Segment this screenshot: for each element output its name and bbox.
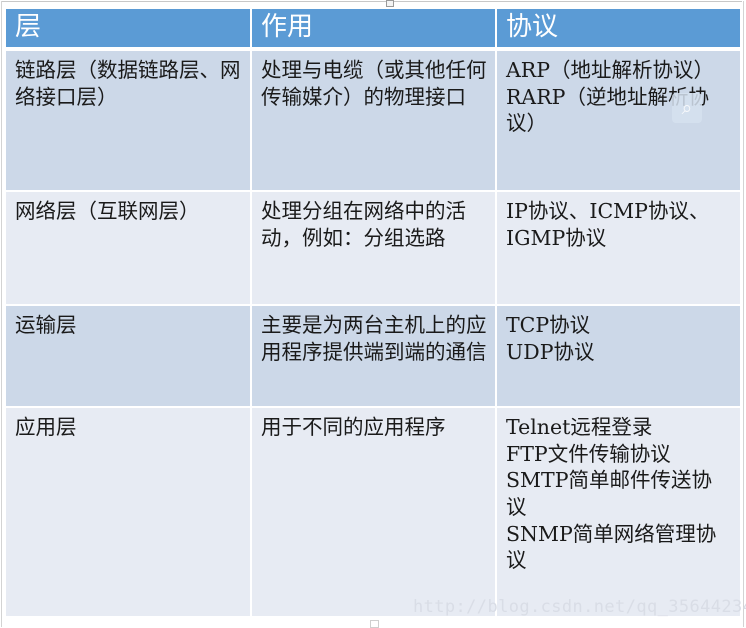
cell-protocols[interactable]: IP协议、ICMP协议、IGMP协议 (497, 192, 740, 306)
cell-text: TCP协议 UDP协议 (506, 312, 732, 365)
cell-text: 用于不同的应用程序 (261, 414, 487, 441)
object-resize-handle-top[interactable] (386, 0, 394, 7)
table-header-row: 层 作用 协议 (6, 9, 740, 47)
object-resize-handle-bottom[interactable] (370, 620, 379, 628)
cell-text: 处理与电缆（或其他任何传输媒介）的物理接口 (261, 57, 487, 110)
cell-text: 网络层（互联网层） (15, 198, 242, 225)
column-header-role[interactable]: 作用 (252, 9, 497, 47)
table-row: 运输层 主要是为两台主机上的应用程序提供端到端的通信 TCP协议 UDP协议 (6, 306, 740, 408)
table-row: 网络层（互联网层） 处理分组在网络中的活动，例如：分组选路 IP协议、ICMP协… (6, 192, 740, 306)
cell-layer[interactable]: 运输层 (6, 306, 252, 408)
object-frame-top-edge (2, 1, 742, 2)
cell-role[interactable]: 处理分组在网络中的活动，例如：分组选路 (252, 192, 497, 306)
cell-text: 应用层 (15, 414, 242, 441)
cell-text: 运输层 (15, 312, 242, 339)
slide-canvas: 层 作用 协议 链路层（数据链路层、网络接口层） 处理与电缆（或其他任何传输媒介… (0, 0, 746, 628)
cell-role[interactable]: 用于不同的应用程序 (252, 408, 497, 616)
cell-protocols[interactable]: TCP协议 UDP协议 (497, 306, 740, 408)
cell-protocols[interactable]: ARP（地址解析协议） RARP（逆地址解析协议） (497, 51, 740, 192)
table-row: 链路层（数据链路层、网络接口层） 处理与电缆（或其他任何传输媒介）的物理接口 A… (6, 51, 740, 192)
cell-layer[interactable]: 应用层 (6, 408, 252, 616)
cell-text: 处理分组在网络中的活动，例如：分组选路 (261, 198, 487, 251)
column-header-layer[interactable]: 层 (6, 9, 252, 47)
table-row: 应用层 用于不同的应用程序 Telnet远程登录 FTP文件传输协议 SMTP简… (6, 408, 740, 616)
protocol-layers-table: 层 作用 协议 链路层（数据链路层、网络接口层） 处理与电缆（或其他任何传输媒介… (6, 9, 740, 616)
cell-text: 主要是为两台主机上的应用程序提供端到端的通信 (261, 312, 487, 365)
object-frame-left-edge (1, 1, 2, 627)
column-header-protocol[interactable]: 协议 (497, 9, 740, 47)
cell-role[interactable]: 处理与电缆（或其他任何传输媒介）的物理接口 (252, 51, 497, 192)
cell-text: IP协议、ICMP协议、IGMP协议 (506, 198, 732, 251)
cell-layer[interactable]: 链路层（数据链路层、网络接口层） (6, 51, 252, 192)
cell-text: 链路层（数据链路层、网络接口层） (15, 57, 242, 110)
cell-text: Telnet远程登录 FTP文件传输协议 SMTP简单邮件传送协议 SNMP简单… (506, 414, 732, 574)
cell-layer[interactable]: 网络层（互联网层） (6, 192, 252, 306)
object-frame-right-edge (743, 1, 744, 627)
cell-text: ARP（地址解析协议） RARP（逆地址解析协议） (506, 57, 732, 137)
cell-protocols[interactable]: Telnet远程登录 FTP文件传输协议 SMTP简单邮件传送协议 SNMP简单… (497, 408, 740, 616)
cell-role[interactable]: 主要是为两台主机上的应用程序提供端到端的通信 (252, 306, 497, 408)
